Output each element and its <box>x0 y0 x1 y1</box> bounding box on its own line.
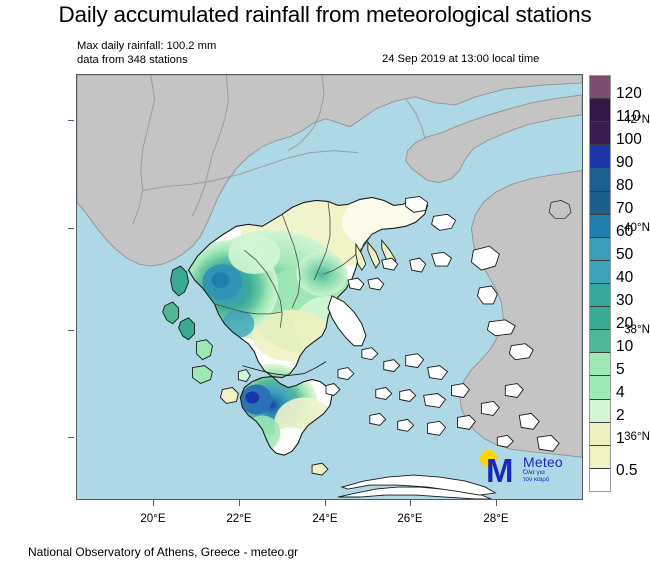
page-title: Daily accumulated rainfall from meteorol… <box>0 2 650 28</box>
lon-label-22e: 22°E <box>209 512 269 525</box>
colorbar-band <box>590 446 610 469</box>
cb-label-110: 110 <box>616 108 641 126</box>
cb-label-2: 2 <box>616 407 625 425</box>
colorbar-band <box>590 307 610 330</box>
colorbar-band <box>590 330 610 353</box>
colorbar-band <box>590 353 610 376</box>
cb-label-60: 60 <box>616 223 633 241</box>
rain-peak-peloponnese <box>245 392 259 404</box>
lat-tick <box>68 120 74 121</box>
cb-label-120: 120 <box>616 85 642 103</box>
lon-tick <box>410 500 411 506</box>
rain-blob-westmac <box>228 234 280 274</box>
max-rainfall-annotation: Max daily rainfall: 100.2 mm data from 3… <box>77 40 216 67</box>
timestamp-annotation: 24 Sep 2019 at 13:00 local time <box>382 53 539 67</box>
meteo-logo[interactable]: M Meteo Όλα για τον καιρό <box>478 448 576 488</box>
lon-label-20e: 20°E <box>123 512 183 525</box>
colorbar-band <box>590 261 610 284</box>
logo-brand-name: Meteo <box>523 454 563 470</box>
rainfall-map[interactable] <box>76 74 583 500</box>
colorbar-band <box>590 238 610 261</box>
cb-label-30: 30 <box>616 292 633 310</box>
cb-label-50: 50 <box>616 246 633 264</box>
cb-label-20: 20 <box>616 315 633 333</box>
cb-label-1: 1 <box>616 430 625 448</box>
colorbar-band <box>590 215 610 238</box>
lon-label-24e: 24°E <box>295 512 355 525</box>
cb-label-10: 10 <box>616 338 633 356</box>
lat-tick <box>68 228 74 229</box>
cb-label-100: 100 <box>616 131 642 149</box>
colorbar-band <box>590 122 610 145</box>
colorbar-band <box>590 400 610 423</box>
cb-label-90: 90 <box>616 154 633 172</box>
rainfall-colorbar[interactable] <box>589 75 611 492</box>
cb-label-4: 4 <box>616 384 625 402</box>
colorbar-band <box>590 469 610 491</box>
colorbar-band <box>590 284 610 307</box>
footer-credit: National Observatory of Athens, Greece -… <box>28 545 298 559</box>
cb-label-70: 70 <box>616 200 633 218</box>
colorbar-band <box>590 423 610 446</box>
lat-tick <box>68 437 74 438</box>
lon-tick <box>153 500 154 506</box>
rain-blob-pieria <box>296 252 348 296</box>
colorbar-band <box>590 145 610 168</box>
colorbar-band <box>590 376 610 399</box>
lon-tick <box>239 500 240 506</box>
colorbar-band <box>590 192 610 215</box>
lat-tick <box>68 330 74 331</box>
lon-label-28e: 28°E <box>466 512 526 525</box>
logo-letter-m: M <box>486 454 513 487</box>
rain-peak-epirus <box>211 272 229 288</box>
colorbar-band <box>590 168 610 191</box>
cb-label-5: 5 <box>616 361 625 379</box>
lon-tick <box>496 500 497 506</box>
lon-label-26e: 26°E <box>380 512 440 525</box>
cb-label-80: 80 <box>616 177 633 195</box>
colorbar-band <box>590 76 610 99</box>
lon-tick <box>325 500 326 506</box>
map-canvas <box>77 75 582 499</box>
colorbar-band <box>590 99 610 122</box>
logo-tagline: Όλα για τον καιρό <box>523 469 549 484</box>
cb-label-0.5: 0.5 <box>616 462 638 480</box>
cb-label-40: 40 <box>616 269 633 287</box>
